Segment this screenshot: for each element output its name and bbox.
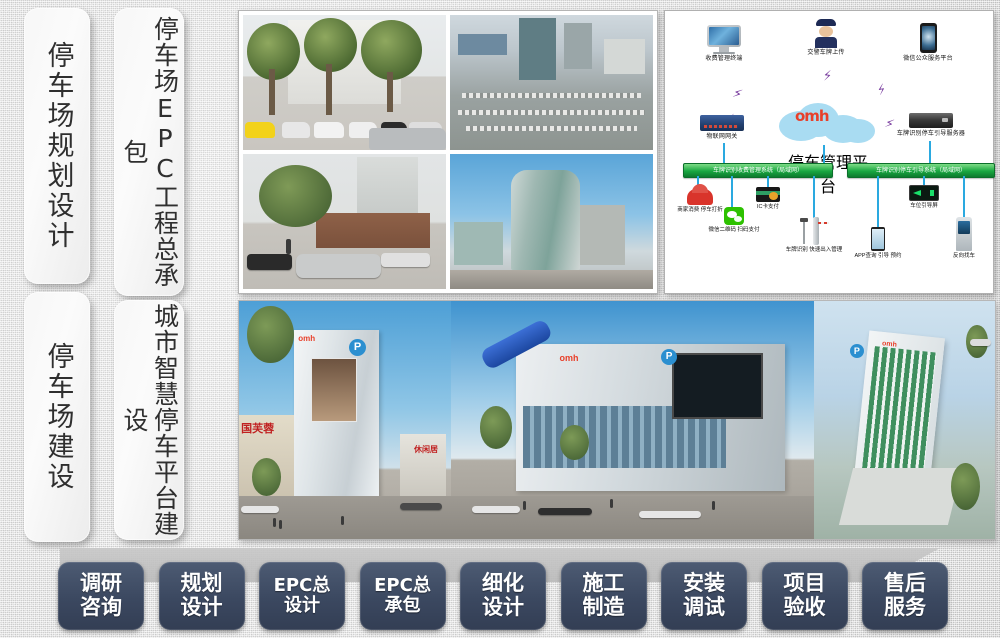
photo-grid-panel [238,10,658,294]
render-street-sign-2: 休闲居 [414,444,438,455]
process-step-label: 安装 调试 [683,572,725,619]
diagram-node-plate-recognition-guidance-server: 车牌识别停车引导服务器 [881,113,981,138]
sidebar-card-parking-epc-general-contracting[interactable]: 停车场EPC工程总承包 [114,8,184,296]
diagram-leaf-plate-fast-entry-exit: 车牌识别 快速出入管理 [783,217,845,254]
sidebar-card-parking-construction[interactable]: 停车场建设 [24,292,90,542]
photo-office-tower [450,154,653,289]
diagram-node-toll-management-terminal: 收费管理终端 [681,25,767,63]
sidebar-card-label: 停车场EPC工程总承包 [119,8,180,296]
process-step-label: 规划 设计 [181,572,223,619]
diagram-node-iot-gateway: 物联网网关 [679,115,765,141]
diagram-node-label: 物联网网关 [679,133,765,141]
diagram-node-wechat-public-service-platform: 微信公众服务平台 [885,23,971,63]
process-step-epc-general-contracting[interactable]: EPC总 承包 [360,562,446,630]
process-step-installation-commissioning[interactable]: 安装 调试 [661,562,747,630]
diagram-leaf-label: 反向找车 [933,253,995,260]
diagram-leaf-label: 车位引导屏 [893,203,955,210]
diagram-node-label: 车牌识别停车引导服务器 [881,130,981,138]
process-step-label: 售后 服务 [884,572,926,619]
connector-wire [823,145,825,163]
parking-p-sign: P [850,344,864,358]
barrier-gate-icon [799,217,829,245]
diagram-leaf-ic-card-payment: IC卡支付 [737,187,799,211]
connector-wire [963,176,965,218]
diagram-node-traffic-police-plate-upload: 交警车牌上传 [783,19,869,57]
cloud-platform-icon: omh [775,101,883,147]
sidebar: 停车场规划设计 停车场EPC工程总承包 停车场建设 城市智慧停车平台建设 [0,0,228,552]
process-step-label: 项目 验收 [784,572,826,619]
process-step-label: 施工 制造 [583,572,625,619]
process-step-label: 细化 设计 [482,572,524,619]
render-mechanical-garage-tower: P omh 国芙蓉 休闲居 [239,301,451,539]
connector-wire [929,141,931,163]
sidebar-card-parking-planning-design[interactable]: 停车场规划设计 [24,8,90,284]
diagram-leaf-reverse-car-finding: 反向找车 [933,217,995,260]
sidebar-card-smart-city-parking-platform[interactable]: 城市智慧停车平台建设 [114,300,184,540]
connector-wire [723,143,725,163]
process-step-label: EPC总 设计 [274,576,331,616]
lightning-connector-icon: ⚡ [731,86,744,101]
diagram-leaf-space-guidance-screen: 车位引导屏 [893,185,955,210]
gateway-icon [700,115,744,131]
process-step-project-acceptance[interactable]: 项目 验收 [762,562,848,630]
render-logo: omh [560,353,579,363]
omh-logo: omh [795,107,829,125]
photo-aerial-parking-view [450,15,653,150]
diagram-bar-plate-guidance-system: 车牌识别停车引导系统（局域网） [847,163,995,178]
render-led-billboard [672,353,763,419]
kiosk-icon [956,217,972,251]
sidebar-card-label: 停车场规划设计 [41,41,74,251]
process-step-bar: 调研 咨询 规划 设计 EPC总 设计 EPC总 承包 细化 设计 施工 制造 … [58,560,948,632]
render-logo: omh [298,334,315,343]
bank-card-icon [756,187,780,202]
parking-p-sign: P [661,349,677,365]
diagram-leaf-label: APP查询 引导 预约 [847,253,909,260]
process-step-epc-general-design[interactable]: EPC总 设计 [259,562,345,630]
lightning-connector-icon: ⚡ [875,82,889,98]
network-diagram-panel: ⚡ ⚡ ⚡ ⚡ ⚡ 收费管理终端 交警车牌上传 微信公众服务平台 [664,10,994,294]
diagram-leaf-label: 车牌识别 快速出入管理 [783,247,845,254]
smartphone-icon [920,23,937,53]
server-icon [909,113,953,128]
process-step-after-sales-service[interactable]: 售后 服务 [862,562,948,630]
render-aerial-tower-garage: P omh [814,301,995,539]
monitor-icon [707,25,741,53]
render-billboard [311,358,357,422]
process-step-label: EPC总 承包 [374,576,431,616]
connector-wire [877,176,879,228]
photo-open-parking-lot [243,154,446,289]
render-garage-building: P omh [451,301,814,539]
process-step-planning-design[interactable]: 规划 设计 [159,562,245,630]
process-step-research-consulting[interactable]: 调研 咨询 [58,562,144,630]
diagram-node-label: 微信公众服务平台 [885,55,971,63]
red-car-icon [687,189,713,205]
diagram-leaf-label: 微信二维码 扫码支付 [703,227,765,234]
mobile-app-icon [871,227,885,251]
process-step-detailed-design[interactable]: 细化 设计 [460,562,546,630]
photo-street-parking-lot [243,15,446,150]
diagram-bar-plate-toll-system: 车牌识别收费管理系统（局域网） [683,163,833,178]
connector-wire [731,176,733,208]
process-step-label: 调研 咨询 [80,572,122,619]
connector-wire [813,176,815,218]
architectural-render-strip: P omh 国芙蓉 休闲居 P omh P omh [238,300,996,540]
diagram-leaf-app-query-guidance-booking: APP查询 引导 预约 [847,227,909,260]
render-street-sign-1: 国芙蓉 [241,420,274,436]
police-officer-icon [814,19,838,47]
lightning-connector-icon: ⚡ [822,69,832,83]
diagram-node-label: 收费管理终端 [681,55,767,63]
process-step-construction-manufacturing[interactable]: 施工 制造 [561,562,647,630]
diagram-node-label: 交警车牌上传 [783,49,869,57]
parking-p-sign: P [349,339,366,356]
sidebar-card-label: 停车场建设 [41,342,74,492]
led-screen-icon [909,185,939,201]
diagram-leaf-label: IC卡支付 [737,204,799,211]
sidebar-card-label: 城市智慧停车平台建设 [119,300,180,540]
